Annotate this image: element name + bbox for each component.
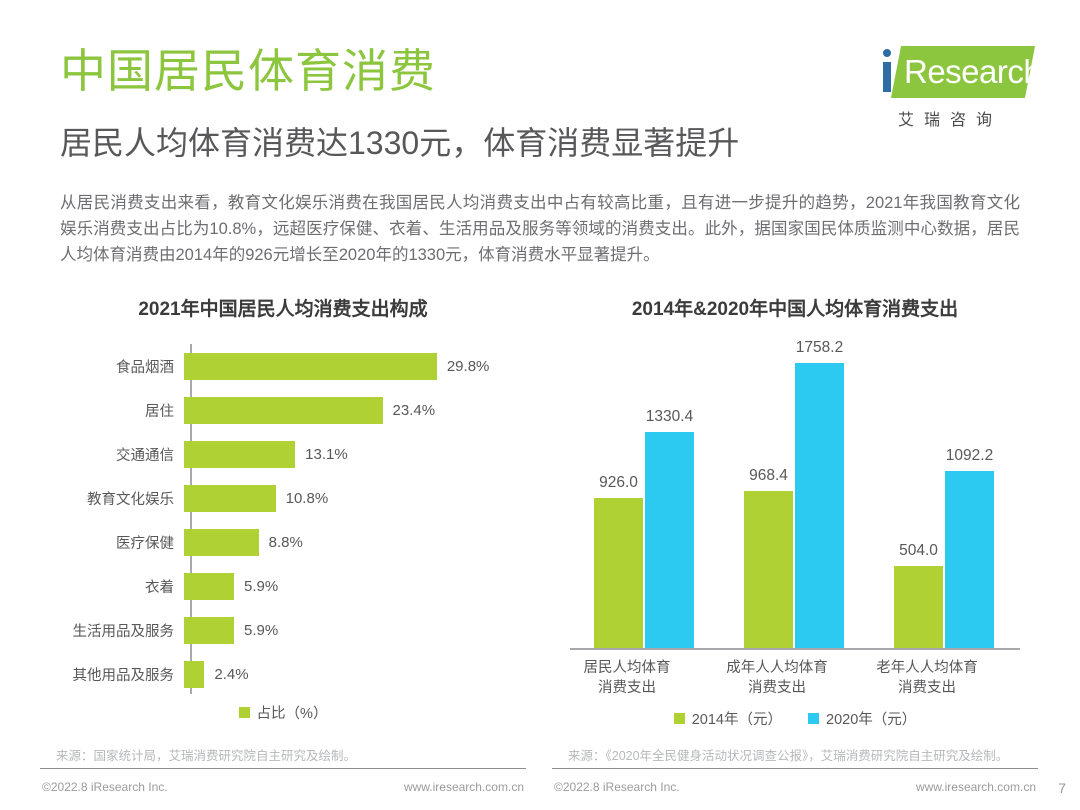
bar-value-label: 2.4% xyxy=(214,666,248,683)
grouped-bar-chart: 926.01330.4968.41758.2504.01092.2 居民人均体育… xyxy=(552,340,1038,700)
bar-value-label: 10.8% xyxy=(286,490,329,507)
bar-segment xyxy=(894,566,943,648)
footer-divider xyxy=(552,768,1038,769)
bar-row: 居住23.4% xyxy=(40,388,526,432)
bar-group: 926.01330.4 xyxy=(570,340,720,648)
bar-category-label: 教育文化娱乐 xyxy=(40,488,182,509)
horizontal-bar-chart: 食品烟酒29.8%居住23.4%交通通信13.1%教育文化娱乐10.8%医疗保健… xyxy=(40,344,526,694)
bar-category-label: 交通通信 xyxy=(40,444,182,465)
bar-segment xyxy=(594,498,643,648)
bar-category-label: 其他用品及服务 xyxy=(40,664,182,685)
bar-row: 其他用品及服务2.4% xyxy=(40,652,526,696)
bar-segment xyxy=(795,363,844,648)
bar-category-label: 居民人均体育消费支出 xyxy=(552,658,702,698)
legend-item: 2020年（元） xyxy=(808,708,916,729)
footer-divider xyxy=(40,768,526,769)
logo-chinese-name: 艾瑞咨询 xyxy=(898,106,1002,130)
legend-swatch-icon xyxy=(239,707,250,718)
footer-right: ©2022.8 iResearch Inc. www.iresearch.com… xyxy=(552,768,1038,810)
footer-left: ©2022.8 iResearch Inc. www.iresearch.com… xyxy=(40,768,526,810)
right-chart-legend: 2014年（元）2020年（元） xyxy=(552,708,1038,729)
page-header: 中国居民体育消费 居民人均体育消费达1330元，体育消费显著提升 Researc… xyxy=(0,0,1080,180)
bar-category-label: 老年人人均体育消费支出 xyxy=(852,658,1002,698)
bar-row: 教育文化娱乐10.8% xyxy=(40,476,526,520)
page-subtitle: 居民人均体育消费达1330元，体育消费显著提升 xyxy=(60,125,739,162)
bar-category-label: 医疗保健 xyxy=(40,532,182,553)
logo-i-stem-icon xyxy=(883,62,891,92)
footer-url: www.iresearch.com.cn xyxy=(404,780,524,794)
bar-value-label: 1330.4 xyxy=(630,408,710,426)
legend-item: 占比（%） xyxy=(239,702,328,723)
footer-copyright: ©2022.8 iResearch Inc. xyxy=(42,780,168,794)
legend-label: 占比（%） xyxy=(257,702,328,723)
bar-category-label: 食品烟酒 xyxy=(40,356,182,377)
bar-segment xyxy=(184,617,234,644)
chart-panel-right: 2014年&2020年中国人均体育消费支出 926.01330.4968.417… xyxy=(552,292,1038,772)
right-chart-title: 2014年&2020年中国人均体育消费支出 xyxy=(552,298,1038,322)
bar-category-label: 生活用品及服务 xyxy=(40,620,182,641)
bar-group: 504.01092.2 xyxy=(870,340,1020,648)
body-paragraph: 从居民消费支出来看，教育文化娱乐消费在我国居民人均消费支出中占有较高比重，且有进… xyxy=(60,190,1020,268)
logo-mark: Research xyxy=(876,44,1032,102)
logo-wordmark: Research xyxy=(904,53,1034,91)
bar-category-line: 消费支出 xyxy=(552,678,702,698)
page-number: 7 xyxy=(1058,780,1066,796)
bar-row: 交通通信13.1% xyxy=(40,432,526,476)
bar-segment xyxy=(645,432,694,648)
bar-category-line: 居民人均体育 xyxy=(552,658,702,678)
page-footer: ©2022.8 iResearch Inc. www.iresearch.com… xyxy=(0,768,1080,810)
legend-swatch-icon xyxy=(674,713,685,724)
bar-segment xyxy=(184,441,295,468)
legend-label: 2014年（元） xyxy=(692,708,782,729)
chart-panel-left: 2021年中国居民人均消费支出构成 食品烟酒29.8%居住23.4%交通通信13… xyxy=(40,292,526,772)
bar-value-label: 8.8% xyxy=(269,534,303,551)
legend-label: 2020年（元） xyxy=(826,708,916,729)
bar-value-label: 29.8% xyxy=(447,358,490,375)
right-chart-baseline xyxy=(570,648,1020,650)
bar-row: 生活用品及服务5.9% xyxy=(40,608,526,652)
bar-value-label: 23.4% xyxy=(393,402,436,419)
bar-category-line: 消费支出 xyxy=(702,678,852,698)
bar-category-label: 居住 xyxy=(40,400,182,421)
left-chart-title: 2021年中国居民人均消费支出构成 xyxy=(40,298,526,322)
bar-row: 衣着5.9% xyxy=(40,564,526,608)
left-chart-legend: 占比（%） xyxy=(40,702,526,723)
bar-value-label: 1092.2 xyxy=(930,447,1010,465)
page-title: 中国居民体育消费 xyxy=(60,48,436,94)
bar-segment xyxy=(744,491,793,648)
bar-value-label: 1758.2 xyxy=(780,339,860,357)
bar-category-label: 成年人人均体育消费支出 xyxy=(702,658,852,698)
bar-segment xyxy=(184,353,437,380)
iresearch-logo: Research 艾瑞咨询 xyxy=(876,44,1032,136)
bar-category-line: 消费支出 xyxy=(852,678,1002,698)
bar-segment xyxy=(184,661,204,688)
bar-row: 医疗保健8.8% xyxy=(40,520,526,564)
legend-swatch-icon xyxy=(808,713,819,724)
bar-category-label: 衣着 xyxy=(40,576,182,597)
bar-segment xyxy=(945,471,994,648)
bar-value-label: 13.1% xyxy=(305,446,348,463)
bar-value-label: 5.9% xyxy=(244,578,278,595)
bar-group: 968.41758.2 xyxy=(720,340,870,648)
left-chart-source: 来源：国家统计局，艾瑞消费研究院自主研究及绘制。 xyxy=(56,745,356,764)
right-chart-source: 来源：《2020年全民健身活动状况调查公报》，艾瑞消费研究院自主研究及绘制。 xyxy=(568,745,1008,764)
footer-copyright: ©2022.8 iResearch Inc. xyxy=(554,780,680,794)
bar-row: 食品烟酒29.8% xyxy=(40,344,526,388)
bar-segment xyxy=(184,573,234,600)
bar-category-line: 成年人人均体育 xyxy=(702,658,852,678)
bar-category-line: 老年人人均体育 xyxy=(852,658,1002,678)
logo-i-dot-icon xyxy=(883,49,891,57)
legend-item: 2014年（元） xyxy=(674,708,782,729)
bar-value-label: 5.9% xyxy=(244,622,278,639)
footer-url: www.iresearch.com.cn xyxy=(916,780,1036,794)
bar-segment xyxy=(184,529,259,556)
bar-segment xyxy=(184,397,383,424)
bar-segment xyxy=(184,485,276,512)
